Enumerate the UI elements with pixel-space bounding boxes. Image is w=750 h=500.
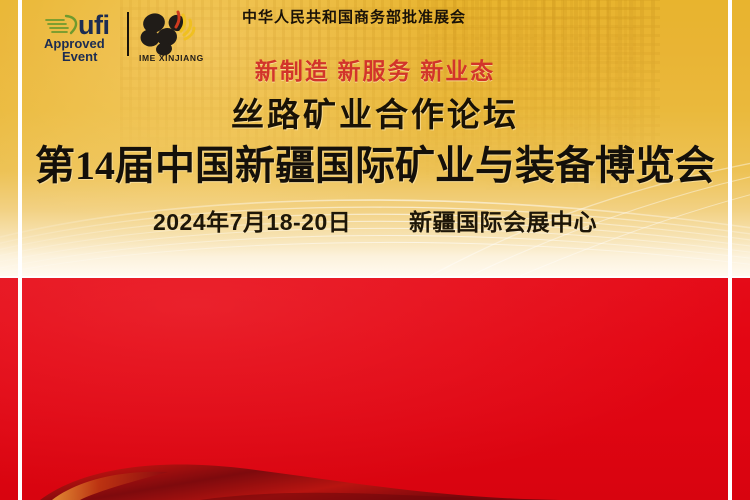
mining-expo-title: 第14届中国新疆国际矿业与装备博览会 — [0, 133, 750, 191]
silk-road-forum-title: 丝路矿业合作论坛 — [0, 88, 750, 136]
gold-venue: 新疆国际会展中心 — [409, 209, 597, 235]
coal-expo-red-banner: ICIE 新疆煤博会 中华人民共和国商务部批准展会 第19届中国新疆国际煤炭工业… — [0, 278, 750, 500]
gold-date: 2024年7月18-20日 — [153, 209, 351, 235]
gold-banner-left-rule — [18, 0, 22, 276]
red-banner-right-rule — [728, 278, 732, 500]
mining-expo-gold-banner: ufi Approved Event IME XINJIANG — [0, 0, 750, 276]
red-banner-left-rule — [18, 278, 22, 500]
gold-tagline: 新制造 新服务 新业态 — [0, 52, 750, 86]
poster-stage: ufi Approved Event IME XINJIANG — [0, 0, 750, 500]
red-ribbon-decoration — [0, 454, 750, 500]
gold-approval-text: 中华人民共和国商务部批准展会 — [0, 6, 750, 27]
gold-date-venue: 2024年7月18-20日 新疆国际会展中心 — [0, 203, 750, 237]
gold-banner-right-rule — [728, 0, 732, 276]
